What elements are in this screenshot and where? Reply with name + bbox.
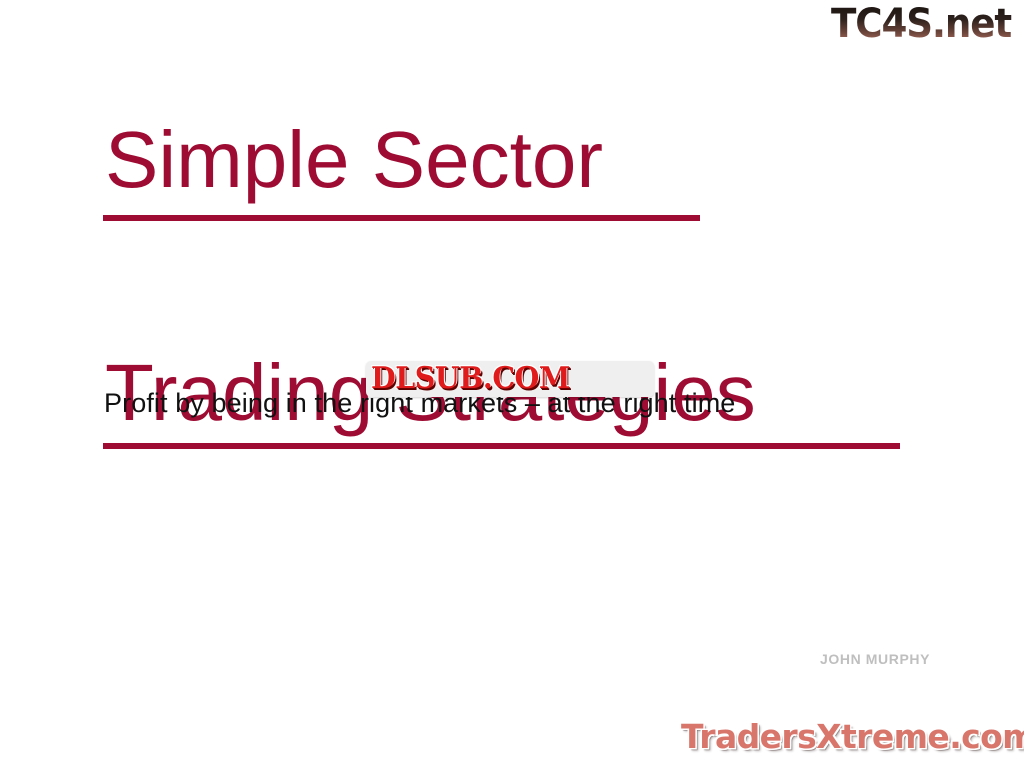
watermark-tc4s-net: TC4S.net	[831, 4, 1011, 44]
author-credit: JOHN MURPHY	[820, 651, 930, 667]
watermark-dlsub-com: DLSUB.COM	[366, 361, 654, 397]
watermark-dlsub-com-text: DLSUB.COM	[371, 362, 570, 396]
title-line-2-underline	[103, 443, 900, 449]
title-line-1-text: Simple Sector	[103, 122, 603, 198]
title-line-1: Simple Sector	[103, 122, 933, 222]
page-title: Simple Sector Trading Strategies	[103, 100, 933, 300]
slide-canvas: TC4S.net Simple Sector Trading Strategie…	[0, 0, 1024, 768]
watermark-tradersxtreme-com: TradersXtreme.com	[681, 718, 1024, 756]
title-line-1-underline	[103, 215, 700, 221]
